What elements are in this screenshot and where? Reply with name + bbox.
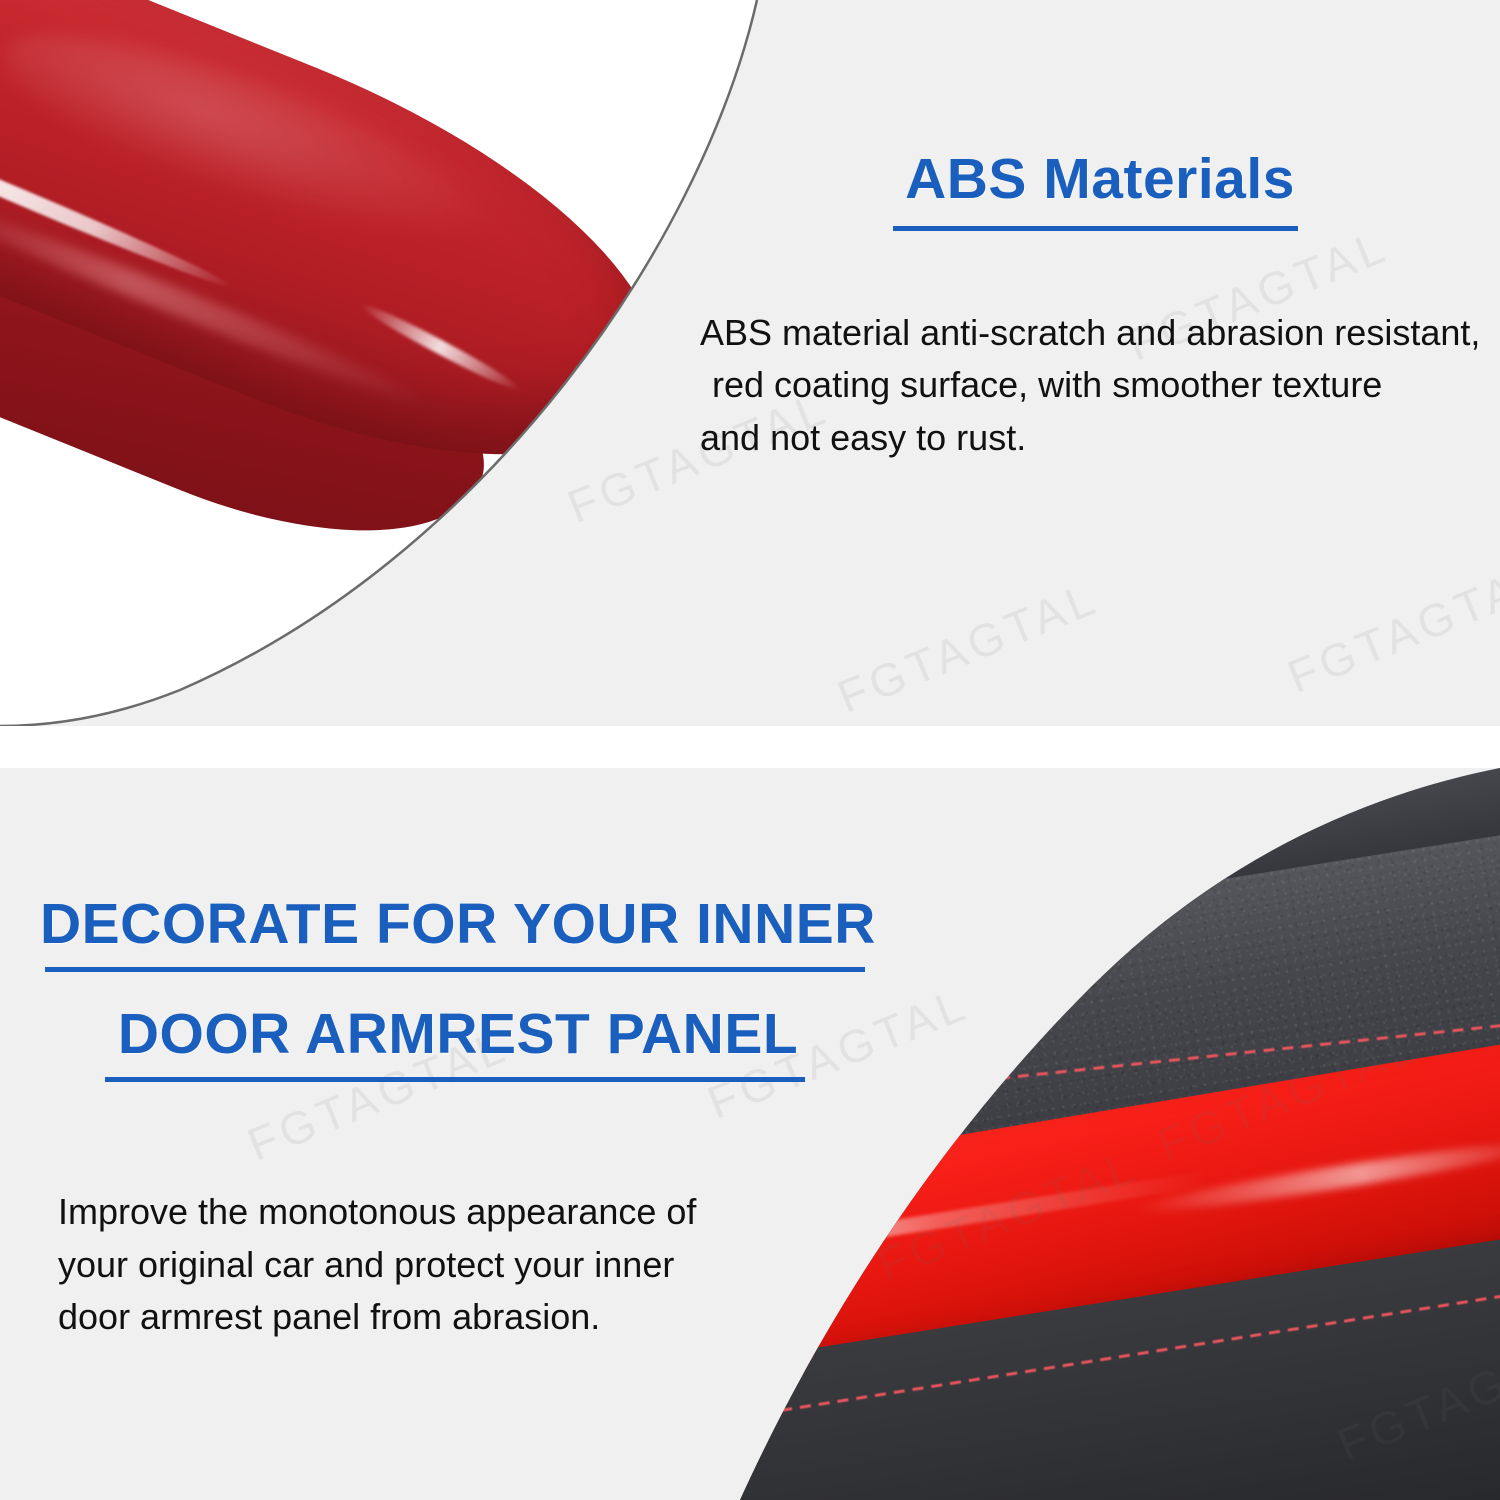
abs-body-line-2: red coating surface, with smoother textu…	[700, 359, 1500, 412]
bottom-feature-panel: DECORATE FOR YOUR INNER DOOR ARMREST PAN…	[0, 768, 1500, 1500]
abs-materials-heading: ABS Materials	[700, 150, 1490, 210]
top-feature-panel: ABS Materials ABS material anti-scratch …	[0, 0, 1500, 726]
decorate-body-line-2: your original car and protect your inner	[58, 1239, 798, 1292]
decorate-heading-underline-1	[45, 967, 865, 972]
decorate-heading-line-1: DECORATE FOR YOUR INNER	[40, 896, 870, 953]
abs-body-line-1: ABS material anti-scratch and abrasion r…	[700, 307, 1500, 360]
watermark-text: FGTAGTAL	[830, 570, 1106, 723]
product-feature-image: ABS Materials ABS material anti-scratch …	[0, 0, 1500, 1500]
abs-heading-underline	[893, 226, 1298, 231]
decorate-heading-underline-2	[105, 1077, 805, 1082]
decorate-body: Improve the monotonous appearance of you…	[40, 1186, 798, 1344]
decorate-body-line-1: Improve the monotonous appearance of	[58, 1186, 798, 1239]
decorate-copy-block: DECORATE FOR YOUR INNER DOOR ARMREST PAN…	[40, 896, 870, 1344]
abs-material-product-photo	[0, 0, 770, 726]
panel-divider	[0, 726, 1500, 768]
decorate-body-line-3: door armrest panel from abrasion.	[58, 1291, 798, 1344]
decorate-heading-line-2: DOOR ARMREST PANEL	[40, 1006, 870, 1063]
abs-body-line-3: and not easy to rust.	[700, 412, 1500, 465]
abs-materials-copy-block: ABS Materials ABS material anti-scratch …	[700, 150, 1490, 464]
photo-outline-stroke	[0, 0, 770, 726]
abs-materials-body: ABS material anti-scratch and abrasion r…	[700, 307, 1500, 465]
watermark-text: FGTAGTAL	[1280, 550, 1500, 703]
